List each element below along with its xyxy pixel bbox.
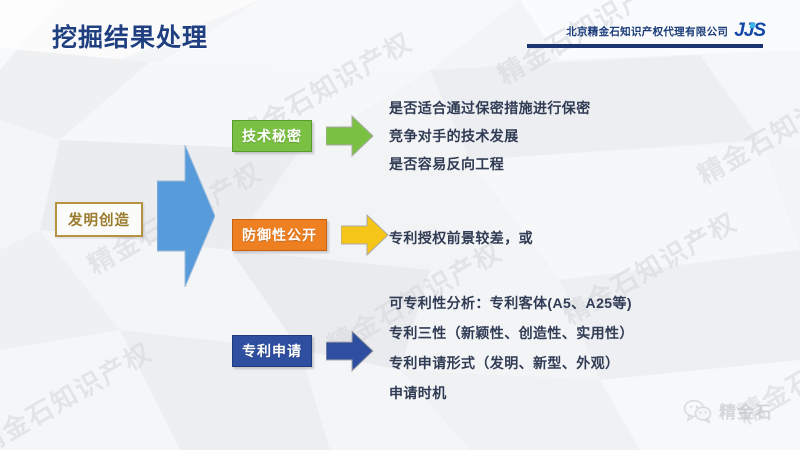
wechat-badge: 精金石 <box>683 398 773 423</box>
page-title: 挖掘结果处理 <box>52 18 208 54</box>
text-line: 是否适合通过保密措施进行保密 <box>389 94 591 122</box>
branch-arrow-2 <box>341 214 389 256</box>
logo-accent-dot <box>749 23 755 28</box>
brand-underline <box>527 44 763 48</box>
main-branch-arrow <box>157 145 215 287</box>
origin-node: 发明创造 <box>55 202 143 237</box>
branch-node-3: 专利申请 <box>232 330 374 372</box>
branch-label-1: 技术秘密 <box>232 120 312 152</box>
brand-block: 北京精金石知识产权代理有限公司 JJS <box>527 22 765 39</box>
branch-node-1: 技术秘密 <box>232 115 374 157</box>
branch-text-2: 专利授权前景较差，或 <box>389 224 533 252</box>
branch-node-2: 防御性公开 <box>232 214 389 256</box>
branch-arrow-1 <box>326 115 374 157</box>
text-line: 专利申请形式（发明、新型、外观） <box>389 348 634 378</box>
text-line: 是否容易反向工程 <box>389 150 591 178</box>
wechat-icon <box>683 399 713 423</box>
text-line: 竞争对手的技术发展 <box>389 122 591 150</box>
jjs-logo: JJS <box>734 22 765 39</box>
branch-text-1: 是否适合通过保密措施进行保密 竞争对手的技术发展 是否容易反向工程 <box>389 94 591 178</box>
wechat-name: 精金石 <box>719 398 773 423</box>
slide: 精金石知识产权 精金石知识产权 精金石知识产权 精金石知识产权 精金石知识产权 … <box>0 0 800 450</box>
text-line: 专利授权前景较差，或 <box>389 224 533 252</box>
branch-label-2: 防御性公开 <box>232 219 327 251</box>
branch-arrow-3 <box>326 330 374 372</box>
branch-text-3: 可专利性分析：专利客体(A5、A25等) 专利三性（新颖性、创造性、实用性） 专… <box>389 288 634 408</box>
branch-label-3: 专利申请 <box>232 335 312 367</box>
text-line: 申请时机 <box>389 378 634 408</box>
company-name: 北京精金石知识产权代理有限公司 <box>566 24 728 39</box>
text-line: 专利三性（新颖性、创造性、实用性） <box>389 318 634 348</box>
text-line: 可专利性分析：专利客体(A5、A25等) <box>389 288 634 318</box>
